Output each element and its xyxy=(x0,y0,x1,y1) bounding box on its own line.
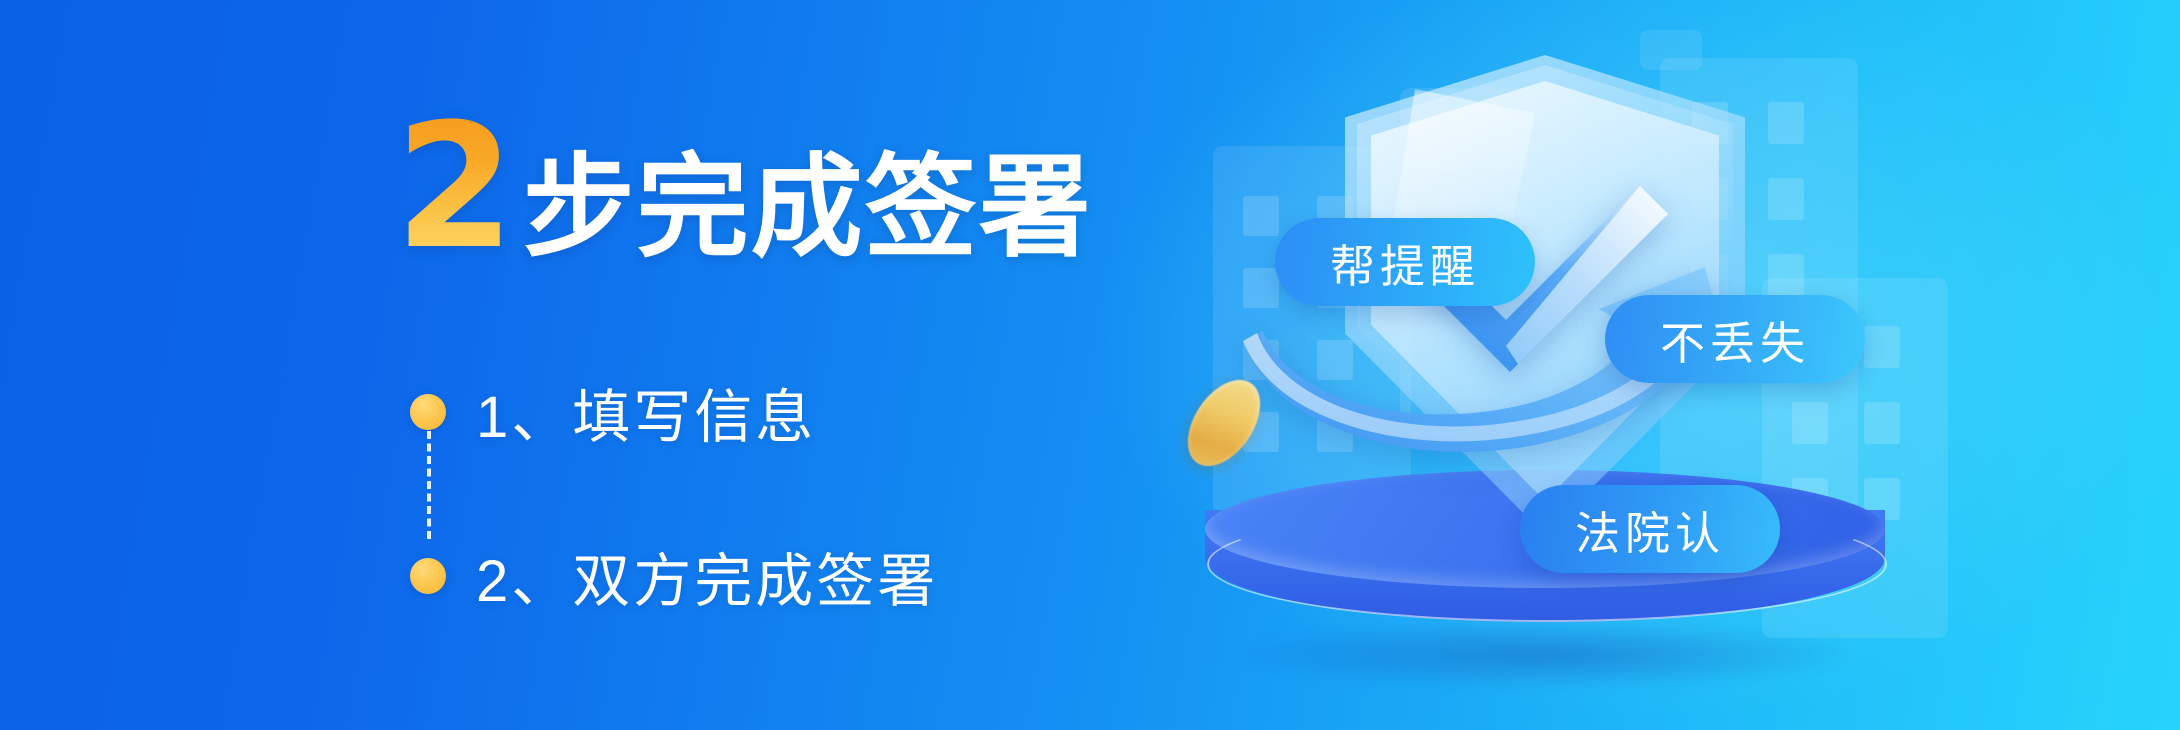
step-dot-icon xyxy=(410,394,446,430)
steps-list: 1、填写信息 2、双方完成签署 xyxy=(410,375,938,613)
badge-label: 不丢失 xyxy=(1660,307,1810,372)
illustration: 帮提醒 不丢失 法院认 xyxy=(1150,0,2180,730)
headline-number: 2 xyxy=(395,105,513,268)
badge-remind: 帮提醒 xyxy=(1275,218,1535,306)
step-label: 2、双方完成签署 xyxy=(476,534,938,618)
badge-label: 帮提醒 xyxy=(1330,230,1480,295)
step-dot-icon xyxy=(410,558,446,594)
step-connector-line xyxy=(427,431,431,539)
badge-no-loss: 不丢失 xyxy=(1605,295,1865,383)
badge-court-recognized: 法院认 xyxy=(1520,485,1780,573)
banner-copy: 2 步完成签署 1、填写信息 2、双方完成签署 xyxy=(0,0,1120,730)
headline: 2 步完成签署 xyxy=(395,105,1093,268)
promo-banner: 2 步完成签署 1、填写信息 2、双方完成签署 xyxy=(0,0,2180,730)
badge-label: 法院认 xyxy=(1575,497,1725,562)
list-item: 2、双方完成签署 xyxy=(410,539,938,613)
headline-text: 步完成签署 xyxy=(523,152,1093,264)
step-label: 1、填写信息 xyxy=(476,370,816,454)
list-item: 1、填写信息 xyxy=(410,375,938,449)
